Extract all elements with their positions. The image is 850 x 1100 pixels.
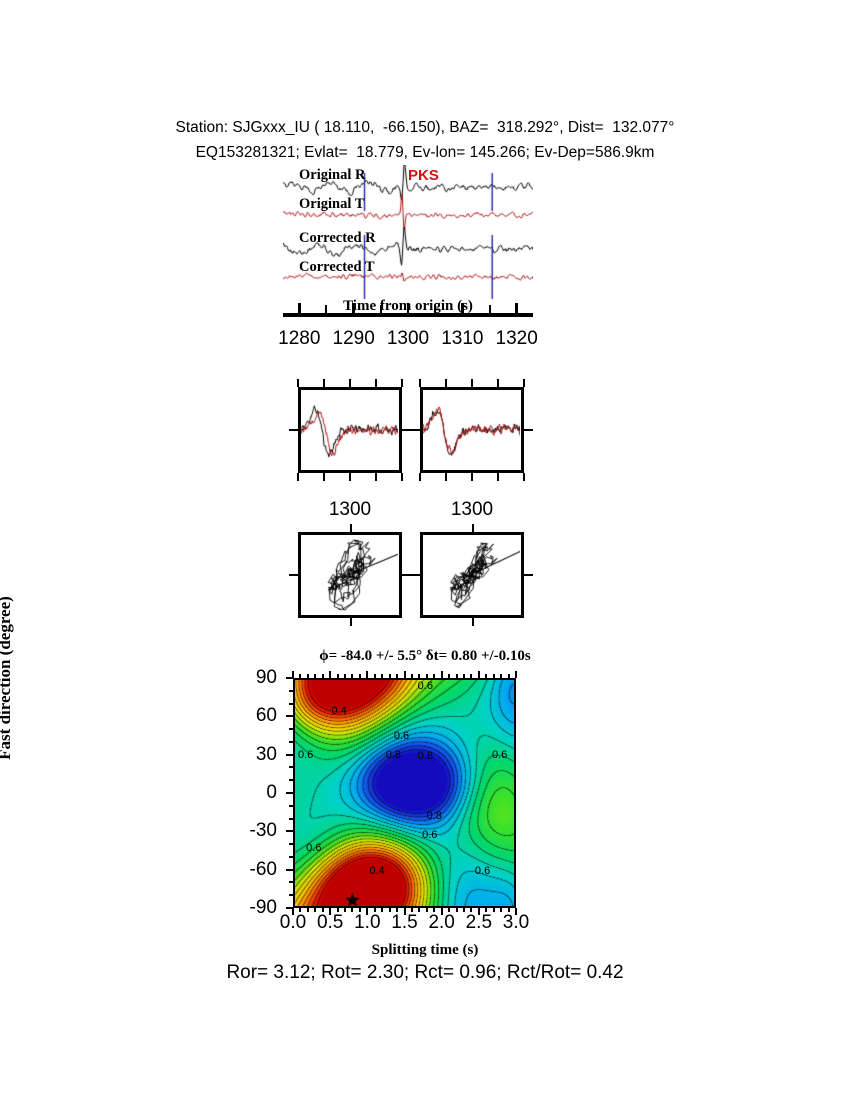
- contour-x-minor-tick-top: [456, 674, 458, 678]
- fast-slow-panel-corrected: [420, 387, 524, 473]
- mid-panel-center-stub: [289, 429, 298, 431]
- quality-footer: Ror= 3.12; Rot= 2.30; Rct= 0.96; Rct/Rot…: [0, 962, 850, 984]
- station-header-line: Station: SJGxxx_IU ( 18.110, -66.150), B…: [0, 119, 850, 137]
- time-major-tick: [407, 303, 410, 314]
- contour-x-minor-tick-top: [314, 674, 316, 678]
- contour-x-axis-title: Splitting time (s): [0, 942, 850, 959]
- contour-x-minor-tick-top: [426, 674, 428, 678]
- contour-x-minor-tick-top: [418, 674, 420, 678]
- contour-y-tick-labels: 9060300-30-60-90: [213, 678, 285, 908]
- time-major-tick: [461, 303, 464, 314]
- event-header-line: EQ153281321; Evlat= 18.779, Ev-lon= 145.…: [0, 144, 850, 162]
- time-major-tick: [298, 303, 301, 314]
- contour-x-minor-tick-top: [485, 674, 487, 678]
- time-axis: Time from origin (s): [283, 300, 533, 320]
- mid-panel-center-stub: [402, 429, 411, 431]
- contour-x-tick-top: [515, 671, 517, 678]
- contour-x-tick-top: [366, 671, 368, 678]
- contour-title: ϕ= -84.0 +/- 5.5° δt= 0.80 +/-0.10s: [0, 648, 850, 665]
- contour-x-tick-label: 0.0: [280, 912, 306, 934]
- particle-motion-axis-stub: [402, 574, 411, 576]
- mid-panel-ticks: [298, 473, 402, 481]
- particle-motion-axis-stub: [472, 618, 474, 626]
- particle-motion-canvas-uncorrected: [301, 535, 398, 614]
- contour-x-tick-top: [478, 671, 480, 678]
- contour-y-tick-label: 60: [256, 705, 277, 727]
- mid-panel-center-stub: [411, 429, 420, 431]
- particle-motion-axis-stub: [524, 574, 533, 576]
- time-tick-label: 1280: [278, 328, 320, 350]
- contour-x-minor-tick-top: [389, 674, 391, 678]
- contour-y-tick-label: -60: [250, 859, 277, 881]
- trace-label-original-r: Original R: [299, 167, 365, 184]
- contour-x-tick-top: [441, 671, 443, 678]
- contour-y-tick-label: 90: [256, 667, 277, 689]
- contour-y-minor-tick: [289, 881, 293, 883]
- contour-x-minor-tick-top: [381, 674, 383, 678]
- particle-motion-axis-stub: [350, 618, 352, 626]
- contour-x-minor-tick-top: [508, 674, 510, 678]
- contour-plot: 0.40.60.60.60.80.80.60.80.60.60.40.6: [293, 678, 516, 908]
- contour-x-tick-label: 1.5: [391, 912, 417, 934]
- time-axis-tick-labels: 12801290130013101320: [259, 328, 559, 354]
- phase-label-pks: PKS: [408, 167, 439, 184]
- contour-y-tick-label: -30: [250, 820, 277, 842]
- contour-x-minor-tick-top: [448, 674, 450, 678]
- fast-slow-canvas-corrected: [423, 390, 520, 469]
- contour-x-minor-tick-top: [493, 674, 495, 678]
- contour-x-minor-tick-top: [374, 674, 376, 678]
- contour-y-tick: [286, 754, 293, 756]
- contour-x-minor-tick-top: [396, 674, 398, 678]
- time-tick-label: 1320: [496, 328, 538, 350]
- mid-panel-ticks: [420, 379, 524, 387]
- contour-x-minor-tick-top: [351, 674, 353, 678]
- time-tick-label: 1310: [441, 328, 483, 350]
- mid-panel-tick-label-1: 1300: [290, 499, 410, 521]
- time-minor-tick: [325, 305, 327, 314]
- trace-label-corrected-t: Corrected T: [299, 259, 375, 276]
- particle-motion-axis-stub: [411, 574, 420, 576]
- contour-y-tick-label: 30: [256, 744, 277, 766]
- contour-y-minor-tick: [289, 805, 293, 807]
- time-major-tick: [515, 303, 518, 314]
- contour-x-minor-tick-top: [299, 674, 301, 678]
- time-tick-label: 1290: [333, 328, 375, 350]
- contour-x-minor-tick-top: [500, 674, 502, 678]
- contour-y-tick-label: 0: [266, 782, 277, 804]
- time-major-tick: [352, 303, 355, 314]
- time-tick-label: 1300: [387, 328, 429, 350]
- particle-motion-panel-uncorrected: [298, 532, 402, 618]
- contour-y-minor-tick: [289, 690, 293, 692]
- contour-x-tick-label: 0.5: [317, 912, 343, 934]
- mid-panel-center-stub: [524, 429, 533, 431]
- trace-label-original-t: Original T: [299, 196, 364, 213]
- contour-x-minor-tick-top: [322, 674, 324, 678]
- contour-y-tick-label: -90: [250, 897, 277, 919]
- contour-x-minor-tick-top: [307, 674, 309, 678]
- contour-y-minor-tick: [289, 818, 293, 820]
- mid-panel-tick-label-2: 1300: [412, 499, 532, 521]
- trace-label-corrected-r: Corrected R: [299, 230, 376, 247]
- particle-motion-axis-stub: [289, 574, 298, 576]
- contour-y-tick: [286, 792, 293, 794]
- contour-y-minor-tick: [289, 779, 293, 781]
- contour-y-minor-tick: [289, 728, 293, 730]
- fast-slow-canvas-uncorrected: [301, 390, 398, 469]
- contour-y-tick: [286, 715, 293, 717]
- time-minor-tick: [489, 305, 491, 314]
- contour-x-tick-label: 1.0: [354, 912, 380, 934]
- time-minor-tick: [434, 305, 436, 314]
- contour-y-tick: [286, 830, 293, 832]
- contour-x-minor-tick-top: [344, 674, 346, 678]
- contour-x-tick-top: [292, 671, 294, 678]
- particle-motion-axis-stub: [350, 524, 352, 532]
- contour-y-minor-tick: [289, 894, 293, 896]
- mid-panel-ticks: [298, 379, 402, 387]
- time-minor-tick: [380, 305, 382, 314]
- contour-x-minor-tick-top: [359, 674, 361, 678]
- contour-x-tick-label: 3.0: [503, 912, 529, 934]
- contour-y-minor-tick: [289, 741, 293, 743]
- contour-x-minor-tick-top: [337, 674, 339, 678]
- contour-x-minor-tick-top: [433, 674, 435, 678]
- waveform-panel: Original R Original T Corrected R Correc…: [283, 165, 533, 300]
- contour-x-tick-labels: 0.00.51.01.52.02.53.0: [293, 912, 516, 938]
- mid-panel-ticks: [420, 473, 524, 481]
- contour-x-tick-label: 2.0: [428, 912, 454, 934]
- contour-x-minor-tick-top: [463, 674, 465, 678]
- contour-x-minor-tick-top: [470, 674, 472, 678]
- contour-y-minor-tick: [289, 843, 293, 845]
- particle-motion-axis-stub: [472, 524, 474, 532]
- contour-y-minor-tick: [289, 703, 293, 705]
- fast-slow-panel-uncorrected: [298, 387, 402, 473]
- contour-x-tick-label: 2.5: [466, 912, 492, 934]
- contour-x-tick-top: [329, 671, 331, 678]
- contour-y-minor-tick: [289, 766, 293, 768]
- contour-y-axis-title: Fast direction (degree): [0, 563, 15, 793]
- contour-x-minor-tick-top: [411, 674, 413, 678]
- contour-canvas: [293, 678, 516, 908]
- contour-x-tick-top: [404, 671, 406, 678]
- contour-y-tick: [286, 869, 293, 871]
- particle-motion-panel-corrected: [420, 532, 524, 618]
- particle-motion-canvas-corrected: [423, 535, 520, 614]
- contour-y-minor-tick: [289, 856, 293, 858]
